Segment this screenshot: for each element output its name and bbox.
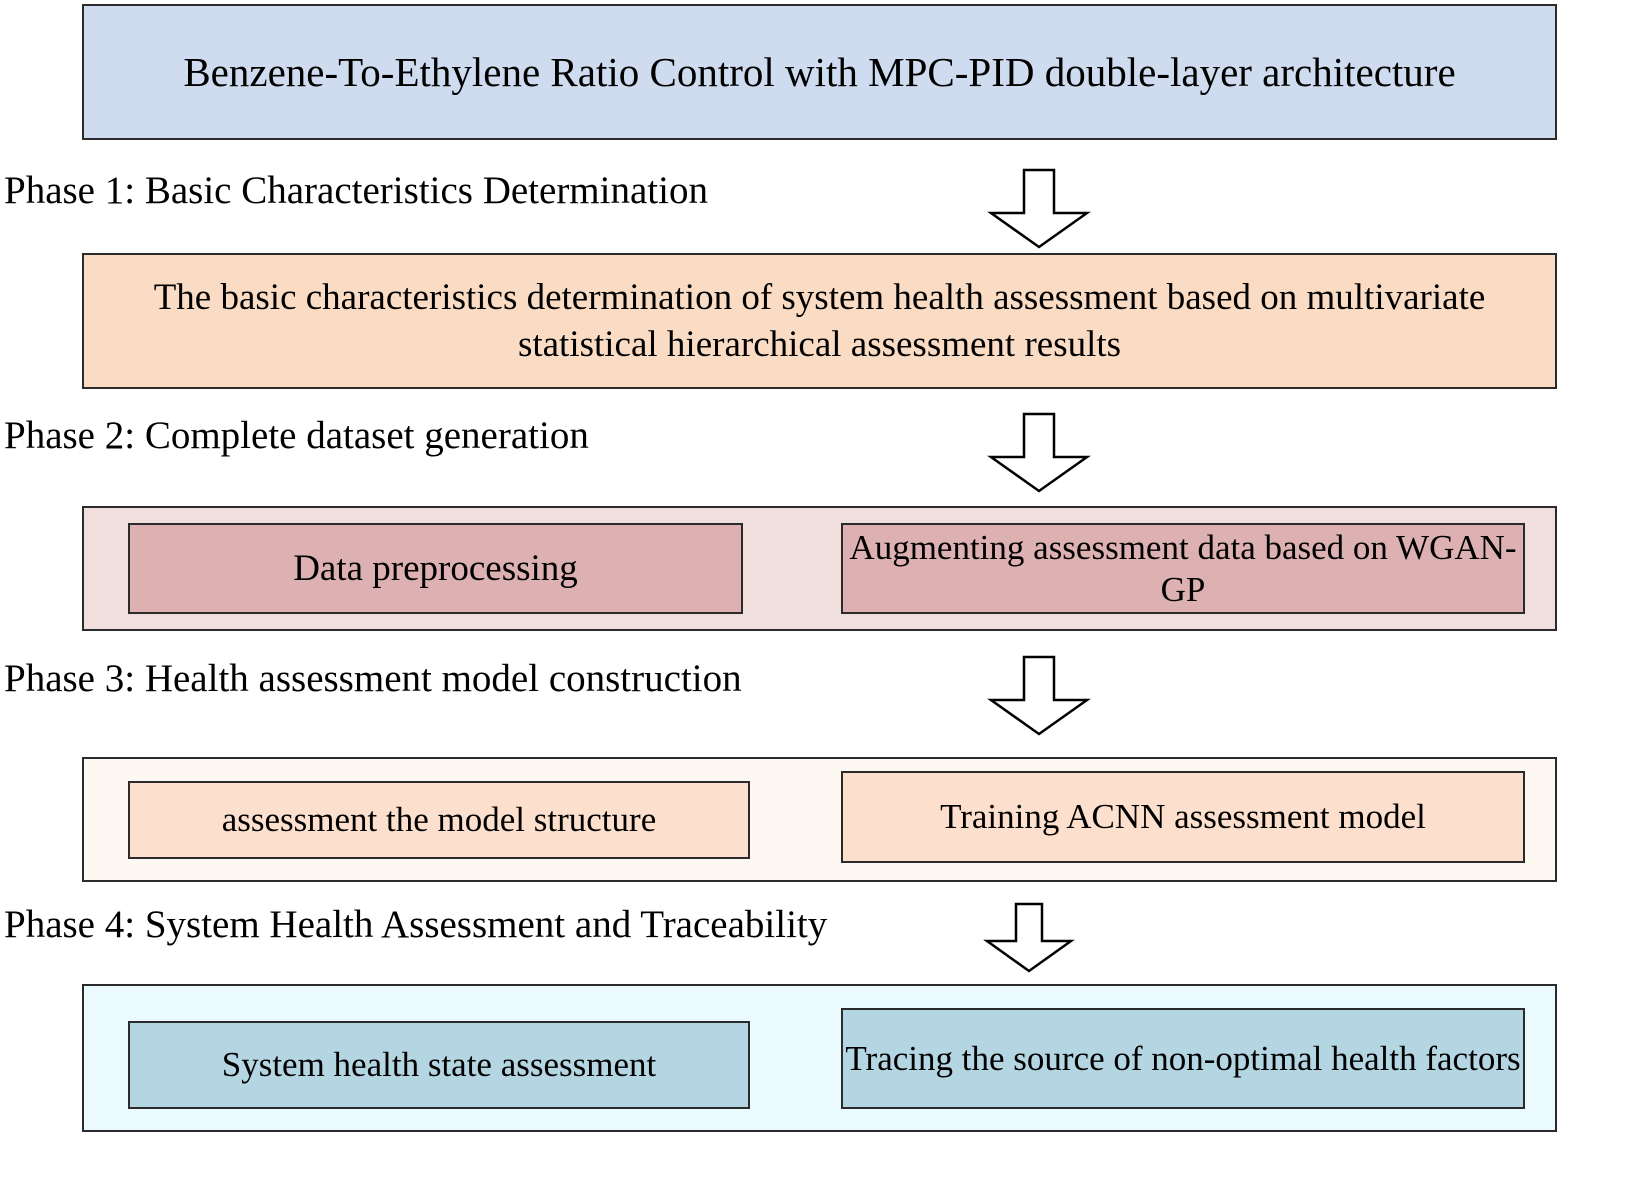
- phase-4-label: Phase 4: System Health Assessment and Tr…: [4, 905, 827, 944]
- flowchart-canvas: Benzene-To-Ethylene Ratio Control with M…: [0, 0, 1641, 1203]
- phase-3-right-text: Training ACNN assessment model: [940, 796, 1426, 837]
- down-block-arrow-icon: [965, 168, 1113, 250]
- phase-4-left-box: System health state assessment: [128, 1021, 750, 1109]
- phase-3-label: Phase 3: Health assessment model constru…: [4, 659, 742, 698]
- phase-4-right-text: Tracing the source of non-optimal health…: [845, 1038, 1520, 1080]
- phase-3-left-text: assessment the model structure: [222, 799, 656, 840]
- down-block-arrow-icon: [965, 412, 1113, 494]
- phase-2-right-text: Augmenting assessment data based on WGAN…: [843, 527, 1523, 611]
- phase-4-left-text: System health state assessment: [222, 1044, 657, 1085]
- phase-2-label: Phase 2: Complete dataset generation: [4, 416, 589, 455]
- down-block-arrow-icon: [965, 902, 1093, 974]
- phase-1-band: The basic characteristics determination …: [82, 253, 1557, 389]
- phase-1-label: Phase 1: Basic Characteristics Determina…: [4, 171, 708, 210]
- diagram-title-box: Benzene-To-Ethylene Ratio Control with M…: [82, 4, 1557, 140]
- phase-1-content-text: The basic characteristics determination …: [108, 274, 1531, 369]
- phase-2-right-box: Augmenting assessment data based on WGAN…: [841, 523, 1525, 614]
- phase-4-right-box: Tracing the source of non-optimal health…: [841, 1008, 1525, 1109]
- phase-2-left-box: Data preprocessing: [128, 523, 743, 614]
- down-block-arrow-icon: [965, 655, 1113, 737]
- phase-3-right-box: Training ACNN assessment model: [841, 771, 1525, 863]
- phase-2-left-text: Data preprocessing: [293, 547, 578, 591]
- diagram-title-text: Benzene-To-Ethylene Ratio Control with M…: [183, 48, 1455, 96]
- phase-3-left-box: assessment the model structure: [128, 781, 750, 859]
